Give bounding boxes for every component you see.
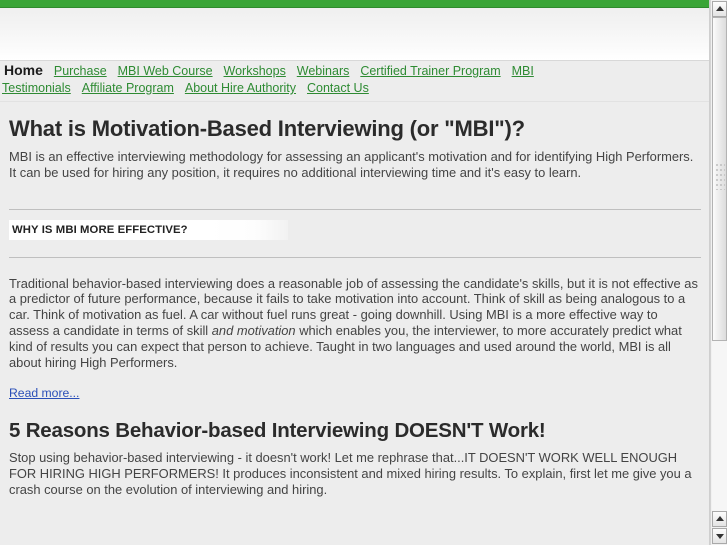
spacer (9, 258, 700, 276)
vertical-scrollbar[interactable] (710, 0, 727, 545)
scroll-down-arrow-icon (716, 534, 724, 539)
nav-item-home: Home (2, 64, 45, 78)
nav-link-home[interactable]: Home (2, 62, 45, 78)
nav-item-certified-trainer-program: Certified Trainer Program (351, 64, 502, 78)
nav-link-workshops[interactable]: Workshops (222, 64, 288, 78)
nav-link-certified-trainer-program[interactable]: Certified Trainer Program (358, 64, 502, 78)
nav-link-webinars[interactable]: Webinars (295, 64, 352, 78)
scrollbar-thumb[interactable] (712, 17, 727, 341)
article-title-5-reasons: 5 Reasons Behavior-based Interviewing DO… (9, 419, 700, 443)
nav-link-about-hire-authority[interactable]: About Hire Authority (183, 81, 298, 95)
browser-viewport: Home Purchase MBI Web Course Workshops W… (0, 0, 727, 545)
article-5-reasons: 5 Reasons Behavior-based Interviewing DO… (9, 419, 700, 497)
nav-item-workshops: Workshops (215, 64, 288, 78)
scroll-up-button-bottom[interactable] (712, 511, 727, 527)
section-divider-top (9, 209, 701, 210)
article-title-mbi-overview: What is Motivation-Based Interviewing (o… (9, 116, 700, 141)
nav-link-purchase[interactable]: Purchase (52, 64, 109, 78)
scroll-up-arrow-icon (716, 6, 724, 11)
read-more-link[interactable]: Read more... (9, 386, 79, 400)
scroll-up-arrow-icon-bottom (716, 516, 724, 521)
nav-item-webinars: Webinars (288, 64, 352, 78)
brand-color-bar (0, 0, 709, 8)
article-list: What is Motivation-Based Interviewing (o… (0, 116, 709, 498)
scroll-up-button[interactable] (712, 1, 727, 17)
nav-link-contact-us[interactable]: Contact Us (305, 81, 371, 95)
scroll-down-button[interactable] (712, 528, 727, 544)
scrollbar-grip-icon (716, 164, 725, 190)
nav-item-contact-us: Contact Us (298, 81, 371, 95)
nav-link-mbi-web-course[interactable]: MBI Web Course (116, 64, 215, 78)
main-navigation: Home Purchase MBI Web Course Workshops W… (0, 61, 709, 102)
article-mbi-overview: What is Motivation-Based Interviewing (o… (9, 116, 700, 402)
nav-item-affiliate-program: Affiliate Program (73, 81, 176, 95)
nav-item-about-hire-authority: About Hire Authority (176, 81, 298, 95)
body-emphasis: and motivation (212, 323, 296, 338)
site-header-banner (0, 8, 709, 61)
page-content: Home Purchase MBI Web Course Workshops W… (0, 0, 710, 545)
section-label-why-is-mbi-more-effective: WHY IS MBI MORE EFFECTIVE? (9, 220, 288, 240)
scrollbar-track[interactable] (712, 17, 727, 511)
article-body-mbi-overview: Traditional behavior-based interviewing … (9, 276, 700, 371)
article-intro-5-reasons: Stop using behavior-based interviewing -… (9, 450, 700, 497)
nav-link-affiliate-program[interactable]: Affiliate Program (80, 81, 176, 95)
article-intro-mbi-overview: MBI is an effective interviewing methodo… (9, 149, 700, 181)
nav-list: Home Purchase MBI Web Course Workshops W… (2, 64, 709, 99)
nav-item-purchase: Purchase (45, 64, 109, 78)
nav-item-mbi-web-course: MBI Web Course (109, 64, 215, 78)
